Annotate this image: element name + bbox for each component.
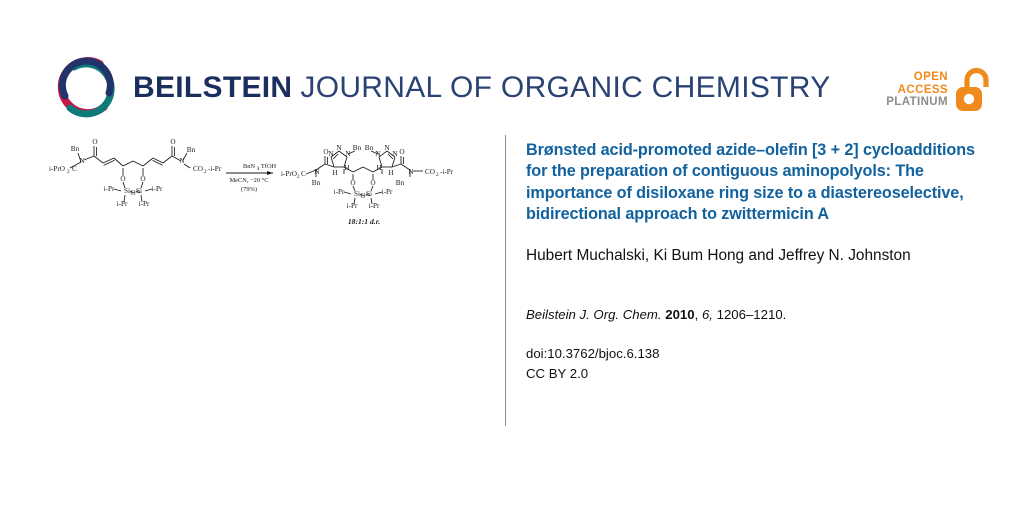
label-bn-left: Bn	[71, 145, 80, 153]
beilstein-swirl-logo-icon	[54, 55, 120, 121]
article-title[interactable]: Brønsted acid-promoted azide–olefin [3 +…	[526, 140, 978, 226]
product-label-si-left: Si	[354, 190, 360, 198]
article-doi[interactable]: doi:10.3762/bjoc.6.138	[526, 344, 978, 364]
svg-text:-i-Pr: -i-Pr	[440, 168, 454, 176]
label-ipr-1: i-Pr	[104, 185, 115, 193]
svg-text:2: 2	[67, 169, 70, 175]
product-label-ch-left: H	[332, 169, 337, 177]
label-carbonyl-o-right: O	[170, 138, 175, 146]
product-label-bn-left: Bn	[312, 179, 321, 187]
product-label-triazoline-n-left-2: N	[336, 144, 342, 152]
label-alkoxy-o-right: O	[140, 175, 145, 183]
label-nitrogen-right: N	[179, 157, 185, 165]
product-label-bn-top-right: Bn	[365, 144, 374, 152]
product-label-amide-o-right: O	[399, 148, 404, 156]
citation-year: 2010	[665, 307, 694, 322]
label-ester-right: CO	[193, 165, 203, 173]
product-label-si-right: Si	[366, 190, 372, 198]
journal-masthead: BEILSTEIN JOURNAL OF ORGANIC CHEMISTRY O…	[0, 0, 1024, 130]
label-ipr-3: i-Pr	[152, 185, 163, 193]
scheme-product-labels: i-PrO 2 C N Bn O N N N Bn H H H H Bn N N…	[281, 144, 454, 210]
journal-wordmark: BEILSTEIN JOURNAL OF ORGANIC CHEMISTRY	[133, 68, 831, 108]
label-bridging-o: O	[130, 189, 135, 197]
condition-reagents: BnN	[243, 163, 255, 170]
reaction-scheme-figure: i-PrO 2 C N Bn O O N Bn CO 2 -i-Pr O O S…	[48, 130, 488, 250]
svg-text:-i-Pr: -i-Pr	[208, 165, 222, 173]
reaction-arrow	[226, 171, 273, 175]
label-nitrogen-left: N	[79, 157, 85, 165]
label-ipr-4: i-Pr	[139, 200, 150, 208]
wordmark-subtitle: JOURNAL OF ORGANIC CHEMISTRY	[300, 71, 830, 105]
product-label-amide-n-left: N	[314, 168, 320, 176]
product-label-nh-right: H	[376, 164, 381, 172]
open-access-line-open: OPEN	[878, 71, 948, 84]
scheme-dr-caption: 18:1:1 d.r.	[348, 217, 380, 226]
product-label-ester-right: CO	[425, 168, 435, 176]
product-label-alkoxy-o-right: O	[370, 179, 375, 187]
product-label-ch-right: H	[388, 169, 393, 177]
label-carbonyl-o-left: O	[92, 138, 97, 146]
reaction-conditions: BnN 3 , TfOH MeCN, −20 °C (79%)	[229, 163, 276, 193]
condition-solvent: MeCN, −20 °C	[229, 177, 268, 184]
product-label-triazoline-n-right-2: N	[384, 144, 390, 152]
product-label-ester-left: i-PrO	[281, 170, 297, 178]
svg-text:2: 2	[436, 172, 439, 178]
product-label-nh-left: H	[344, 164, 349, 172]
citation-pages: 1206–1210.	[717, 307, 787, 322]
label-si-left: Si	[124, 187, 130, 195]
article-license[interactable]: CC BY 2.0	[526, 364, 978, 384]
label-alkoxy-o-left: O	[120, 175, 125, 183]
product-label-alkoxy-o-left: O	[350, 179, 355, 187]
product-label-bridging-o: O	[360, 192, 365, 200]
label-ipr-2: i-Pr	[117, 200, 128, 208]
label-ester-left: i-PrO	[49, 165, 65, 173]
open-access-line-platinum: PLATINUM	[878, 96, 948, 109]
doi-and-license: doi:10.3762/bjoc.6.138 CC BY 2.0	[526, 344, 978, 384]
open-access-label: OPEN ACCESS PLATINUM	[878, 71, 948, 110]
product-label-triazoline-n-left-1: N	[328, 150, 334, 158]
svg-text:C: C	[72, 165, 77, 173]
svg-text:2: 2	[204, 169, 207, 175]
svg-text:, TfOH: , TfOH	[258, 163, 277, 170]
svg-text:2: 2	[297, 174, 300, 180]
article-citation: Beilstein J. Org. Chem. 2010, 6, 1206–12…	[526, 306, 978, 324]
product-label-amide-n-right: N	[408, 168, 414, 176]
label-bn-right: Bn	[187, 146, 196, 154]
product-label-bn-top-left: Bn	[353, 144, 362, 152]
product-label-triazoline-n-left-3: N	[345, 150, 351, 158]
open-lock-icon	[954, 67, 990, 113]
svg-text:C: C	[301, 170, 306, 178]
label-si-right: Si	[136, 187, 142, 195]
citation-journal: Beilstein J. Org. Chem.	[526, 307, 662, 322]
scheme-reactant-labels: i-PrO 2 C N Bn O O N Bn CO 2 -i-Pr O O S…	[49, 138, 222, 208]
product-label-ipr-2: i-Pr	[347, 202, 358, 210]
article-authors: Hubert Muchalski, Ki Bum Hong and Jeffre…	[526, 246, 978, 266]
product-label-triazoline-n-right-3: N	[392, 150, 398, 158]
wordmark-beilstein: BEILSTEIN	[133, 71, 292, 105]
open-access-line-access: ACCESS	[878, 84, 948, 97]
article-metadata: Brønsted acid-promoted azide–olefin [3 +…	[526, 140, 978, 384]
column-divider	[505, 135, 506, 426]
condition-yield: (79%)	[241, 186, 257, 193]
product-label-bn-right: Bn	[396, 179, 405, 187]
product-label-ipr-3: i-Pr	[382, 188, 393, 196]
product-label-triazoline-n-right-1: N	[375, 150, 381, 158]
product-label-ipr-1: i-Pr	[334, 188, 345, 196]
open-access-badge: OPEN ACCESS PLATINUM	[878, 62, 990, 118]
product-label-ipr-4: i-Pr	[369, 202, 380, 210]
